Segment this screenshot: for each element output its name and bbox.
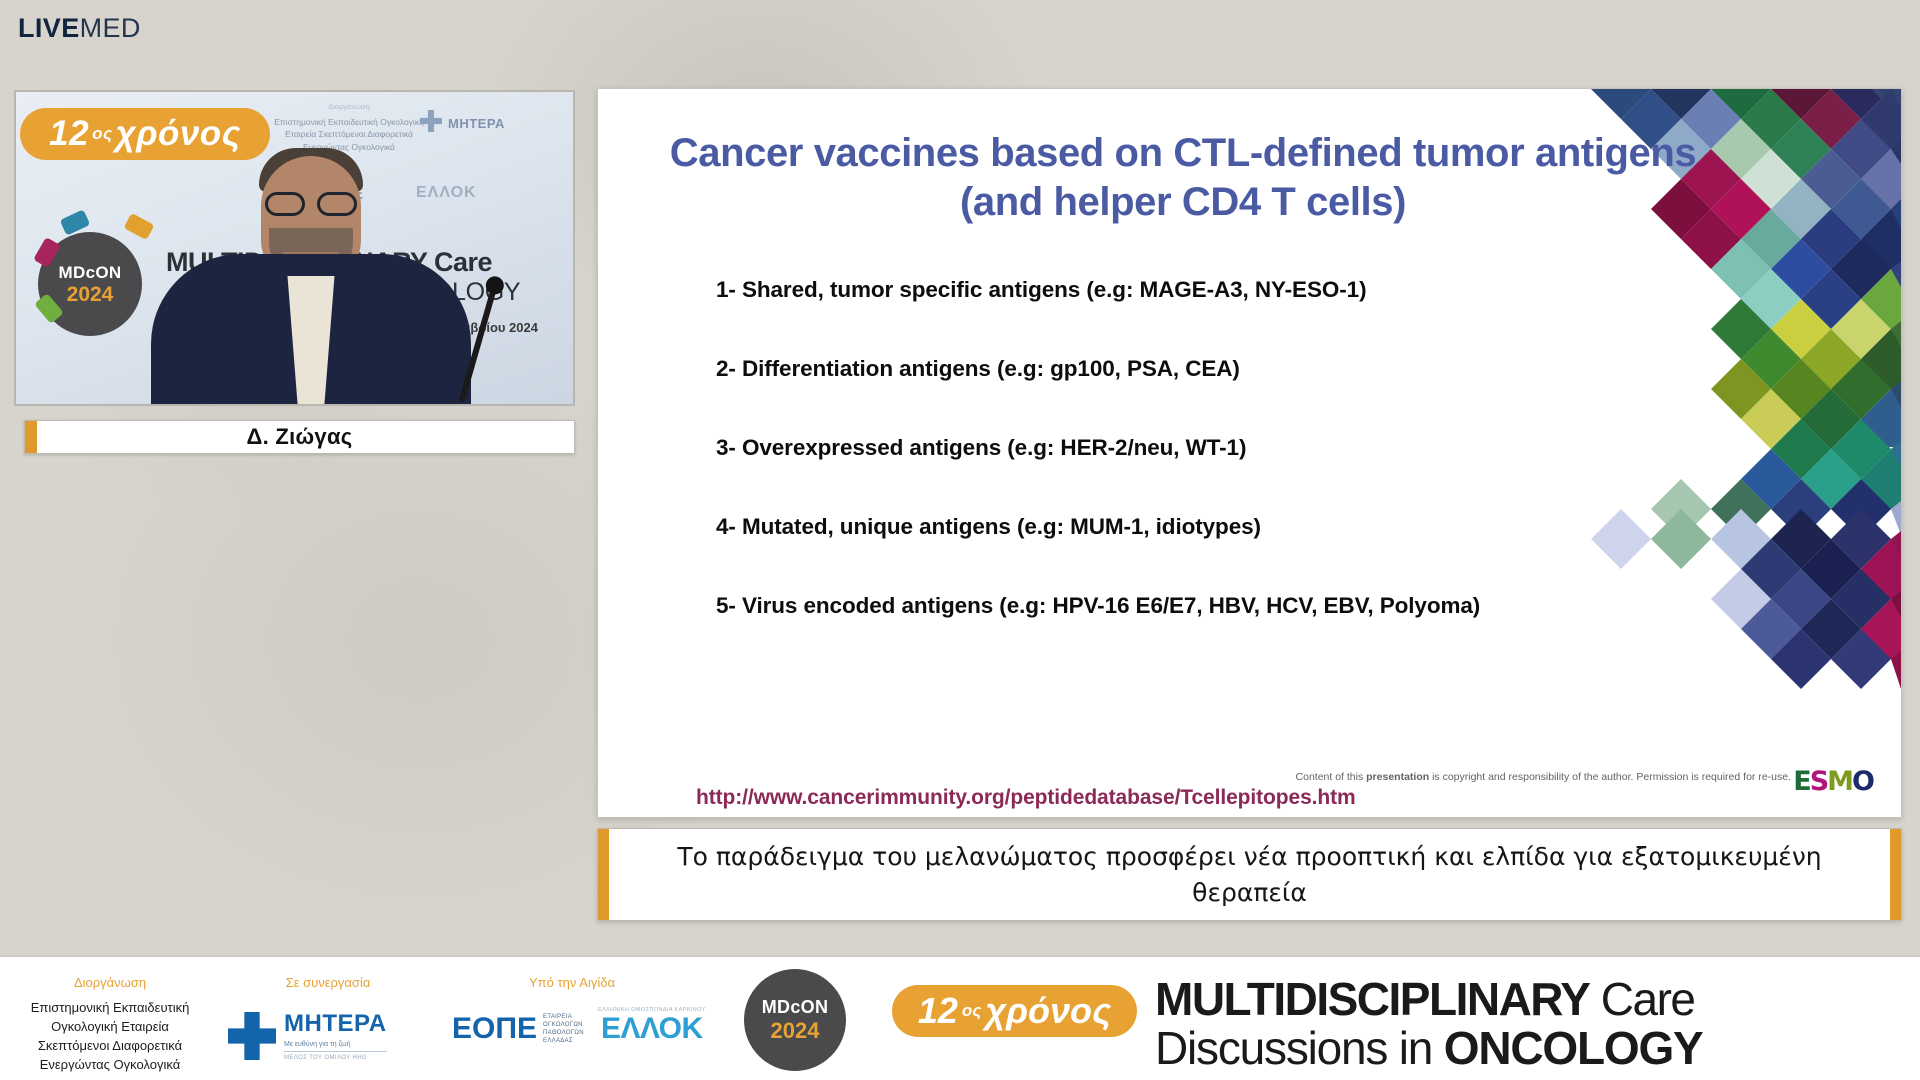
eope-mark: ΕΟΠΕ bbox=[452, 1014, 537, 1044]
footer-title-discussions: Discussions in bbox=[1155, 1022, 1444, 1074]
bullet-item-2: 2- Differentiation antigens (e.g: gp100,… bbox=[716, 356, 1716, 382]
video-frame: 12ος χρόνος Διοργάνωση Επιστημονική Εκπα… bbox=[16, 92, 573, 404]
bullet-item-3: 3- Overexpressed antigens (e.g: HER-2/ne… bbox=[716, 435, 1716, 461]
backdrop-year-number: 12 bbox=[49, 114, 89, 154]
name-plate-accent-bar bbox=[25, 421, 37, 453]
footer-organizer-heading: Διοργάνωση bbox=[10, 975, 210, 990]
copyright-pre: Content of this bbox=[1296, 771, 1367, 783]
footer-title-line1: MULTIDISCIPLINARY Care bbox=[1155, 977, 1703, 1022]
esmo-letter-m: M bbox=[1827, 766, 1852, 797]
slide-bullet-list: 1- Shared, tumor specific antigens (e.g:… bbox=[716, 277, 1716, 672]
footer-mdcon-badge: MDcON 2024 bbox=[744, 969, 846, 1071]
esmo-letter-s: S bbox=[1810, 766, 1827, 797]
footer-organizer-block: Διοργάνωση Επιστημονική Εκπαιδευτική Ογκ… bbox=[10, 975, 210, 1074]
backdrop-mdcon-year: 2024 bbox=[67, 284, 114, 305]
slide-copyright-notice: Content of this presentation is copyrigh… bbox=[1296, 771, 1791, 783]
backdrop-mhtera-logo: ΜΗΤΕΡΑ bbox=[448, 116, 505, 131]
footer-title-line2: Discussions in ONCOLOGY bbox=[1155, 1026, 1703, 1071]
caption-accent-left bbox=[598, 829, 609, 920]
slide-reference-url[interactable]: http://www.cancerimmunity.org/peptidedat… bbox=[696, 786, 1356, 810]
esmo-logo: ESMO bbox=[1793, 768, 1873, 795]
footer-year-word: χρόνος bbox=[985, 990, 1111, 1032]
bullet-item-4: 4- Mutated, unique antigens (e.g: MUM-1,… bbox=[716, 514, 1716, 540]
copyright-post: is copyright and responsibility of the a… bbox=[1429, 771, 1791, 783]
mhtera-text-block: ΜΗΤΕΡΑ Με ευθύνη για τη ζωή ΜΕΛΟΣ ΤΟΥ ΟΜ… bbox=[284, 1012, 387, 1061]
bullet-item-1: 1- Shared, tumor specific antigens (e.g:… bbox=[716, 277, 1716, 303]
brand-med-text: MED bbox=[80, 13, 141, 43]
caption-bar: Το παράδειγμα του μελανώματος προσφέρει … bbox=[597, 828, 1902, 921]
footer-event-title: MULTIDISCIPLINARY Care Discussions in ON… bbox=[1155, 977, 1703, 1071]
footer-year-sup: ος bbox=[962, 1001, 981, 1021]
esmo-letter-o: O bbox=[1852, 766, 1873, 797]
brand-live-text: LIVE bbox=[18, 13, 80, 43]
eope-logo: ΕΟΠΕ ΕΤΑΙΡΕΙΑ ΟΓΚΟΛΟΓΩΝ ΠΑΘΟΛΟΓΩΝ ΕΛΛΑΔΑ… bbox=[452, 1013, 584, 1045]
backdrop-organizer-heading: Διοργάνωση bbox=[264, 102, 434, 113]
ellok-logo: ΕΛΛΗΝΙΚΗ ΟΜΟΣΠΟΝΔΙΑ ΚΑΡΚΙΝΟΥ ΕΛΛΟΚ bbox=[598, 1007, 706, 1045]
caption-text: Το παράδειγμα του μελανώματος προσφέρει … bbox=[609, 839, 1890, 910]
esmo-letter-e: E bbox=[1793, 766, 1809, 797]
ellok-mark: ΕΛΛΟΚ bbox=[598, 1013, 706, 1045]
eope-side-text: ΕΤΑΙΡΕΙΑ ΟΓΚΟΛΟΓΩΝ ΠΑΘΟΛΟΓΩΝ ΕΛΛΑΔΑΣ bbox=[543, 1013, 584, 1045]
footer-mdcon-year: 2024 bbox=[771, 1020, 820, 1042]
mhtera-member-line: ΜΕΛΟΣ ΤΟΥ ΟΜΙΛΟΥ ΗΗG bbox=[284, 1055, 387, 1061]
backdrop-year-sup: ος bbox=[92, 124, 112, 144]
footer-auspices-block: Υπό την Αιγίδα bbox=[452, 975, 692, 999]
footer-title-oncology: ONCOLOGY bbox=[1444, 1022, 1703, 1074]
caption-accent-right bbox=[1890, 829, 1901, 920]
mhtera-tagline: Με ευθύνη για τη ζωή bbox=[284, 1041, 387, 1052]
page-footer: Διοργάνωση Επιστημονική Εκπαιδευτική Ογκ… bbox=[0, 955, 1920, 1080]
mhtera-cross-icon bbox=[228, 1012, 276, 1060]
presentation-slide[interactable]: Cancer vaccines based on CTL-defined tum… bbox=[597, 88, 1902, 818]
slide-title: Cancer vaccines based on CTL-defined tum… bbox=[638, 129, 1728, 227]
speaker-name: Δ. Ζιώγας bbox=[37, 424, 574, 450]
footer-title-care: Care bbox=[1589, 973, 1694, 1025]
footer-year-badge: 12ος χρόνος bbox=[892, 985, 1137, 1037]
footer-auspices-heading: Υπό την Αιγίδα bbox=[452, 975, 692, 990]
speaker-video-player[interactable]: 12ος χρόνος Διοργάνωση Επιστημονική Εκπα… bbox=[14, 90, 575, 406]
backdrop-mdcon-name: MDcON bbox=[59, 264, 122, 281]
speaker-glasses bbox=[263, 192, 359, 216]
bullet-item-5: 5- Virus encoded antigens (e.g: HPV-16 E… bbox=[716, 593, 1716, 619]
copyright-bold: presentation bbox=[1366, 771, 1429, 783]
footer-cooperation-heading: Σε συνεργασία bbox=[228, 975, 428, 990]
livemed-logo: LIVEMED bbox=[18, 15, 141, 42]
footer-title-multidisciplinary: MULTIDISCIPLINARY bbox=[1155, 973, 1589, 1025]
footer-mdcon-name: MDcON bbox=[762, 998, 829, 1016]
footer-organizer-body: Επιστημονική Εκπαιδευτική Ογκολογική Ετα… bbox=[10, 999, 210, 1074]
speaker-name-plate: Δ. Ζιώγας bbox=[24, 420, 575, 454]
mhtera-name: ΜΗΤΕΡΑ bbox=[284, 1012, 387, 1036]
mhtera-logo: ΜΗΤΕΡΑ Με ευθύνη για τη ζωή ΜΕΛΟΣ ΤΟΥ ΟΜ… bbox=[228, 1005, 438, 1067]
footer-cooperation-block: Σε συνεργασία bbox=[228, 975, 428, 999]
speaker-figure bbox=[151, 144, 471, 404]
footer-year-number: 12 bbox=[918, 990, 958, 1032]
